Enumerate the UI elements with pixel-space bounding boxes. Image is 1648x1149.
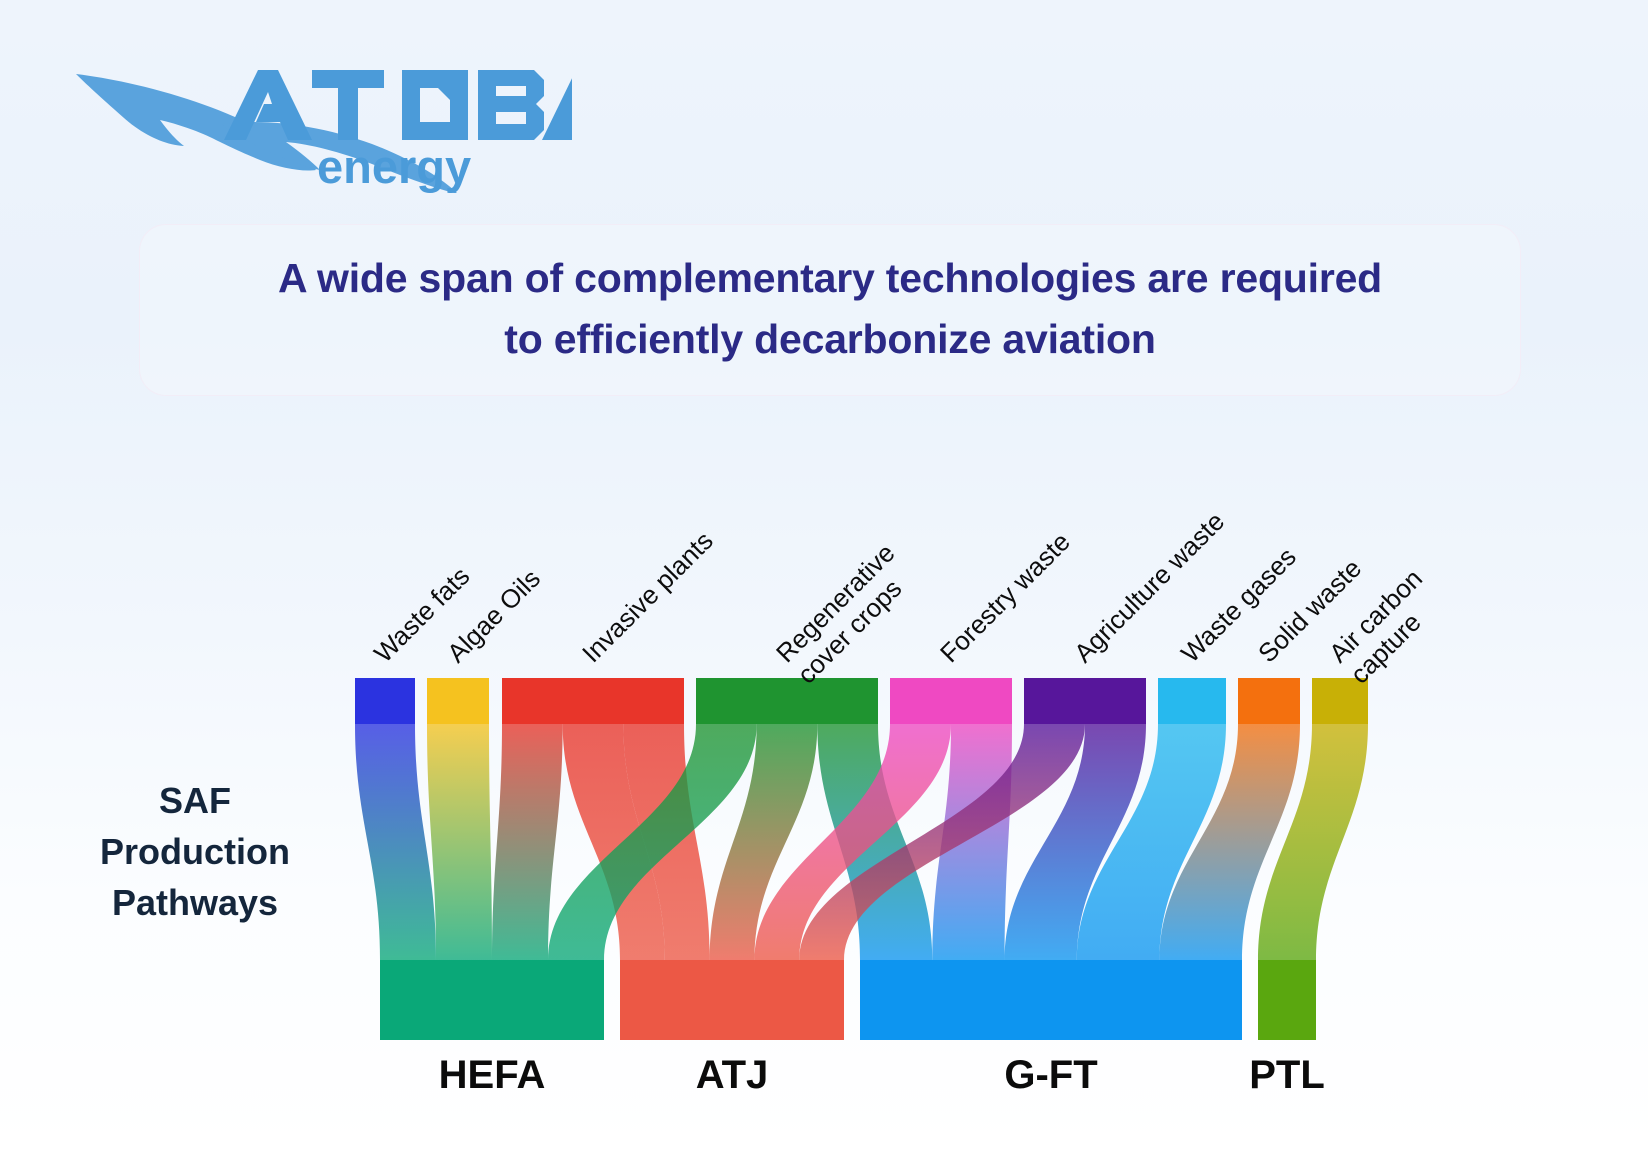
sankey-source-label: Forestry waste <box>934 526 1076 668</box>
sankey-target-label: HEFA <box>439 1053 546 1097</box>
sankey-source-node[interactable] <box>1158 678 1226 724</box>
sankey-source-node[interactable] <box>427 678 489 724</box>
sankey-target-node[interactable] <box>620 960 844 1040</box>
sankey-diagram: Waste fatsAlgae OilsInvasive plantsRegen… <box>330 430 1340 1070</box>
sankey-source-node[interactable] <box>890 678 1012 724</box>
saf-production-pathways-caption: SAF Production Pathways <box>45 775 345 928</box>
brand-logo: energy <box>72 48 572 193</box>
page-title-line-1: A wide span of complementary technologie… <box>150 248 1510 309</box>
svg-text:energy: energy <box>317 140 471 193</box>
sankey-link <box>355 724 436 960</box>
sankey-target-label: PTL <box>1249 1053 1325 1097</box>
sankey-source-nodes: Waste fatsAlgae OilsInvasive plantsRegen… <box>355 506 1449 724</box>
sankey-source-node[interactable] <box>502 678 684 724</box>
sankey-target-node[interactable] <box>380 960 604 1040</box>
caption-line-2: Production <box>45 826 345 877</box>
sankey-target-nodes: HEFAATJG-FTPTL <box>380 960 1325 1097</box>
sankey-source-node[interactable] <box>696 678 878 724</box>
sankey-target-label: ATJ <box>696 1053 769 1097</box>
sankey-source-node[interactable] <box>1024 678 1146 724</box>
sankey-source-label: Invasive plants <box>576 525 719 668</box>
sankey-links <box>355 724 1368 960</box>
svg-text:Forestry waste: Forestry waste <box>934 526 1076 668</box>
page-title: A wide span of complementary technologie… <box>150 248 1510 369</box>
sankey-target-label: G-FT <box>1004 1053 1097 1097</box>
sankey-link <box>427 724 492 960</box>
page-title-line-2: to efficiently decarbonize aviation <box>150 309 1510 370</box>
caption-line-3: Pathways <box>45 877 345 928</box>
svg-text:Invasive plants: Invasive plants <box>576 525 719 668</box>
caption-line-1: SAF <box>45 775 345 826</box>
sankey-source-node[interactable] <box>355 678 415 724</box>
sankey-source-label: Regenerativecover crops <box>770 538 922 690</box>
sankey-link <box>492 724 563 960</box>
sankey-target-node[interactable] <box>1258 960 1316 1040</box>
sankey-target-node[interactable] <box>860 960 1242 1040</box>
brand-tagline-text: energy <box>317 140 471 193</box>
sankey-source-node[interactable] <box>1238 678 1300 724</box>
